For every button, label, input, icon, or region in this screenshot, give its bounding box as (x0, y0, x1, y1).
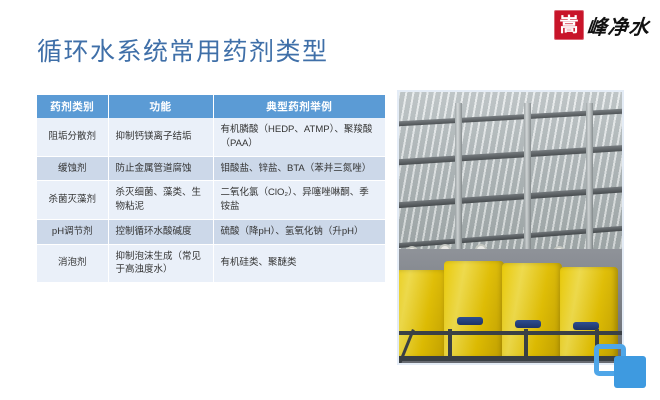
cell-examples: 有机膦酸（HEDP、ATMP）、聚羧酸（PAA） (213, 118, 385, 156)
photo-frame-bar (524, 329, 528, 361)
photo-tank-mixer (457, 317, 483, 325)
cell-examples: 钼酸盐、锌盐、BTA（苯并三氮唑） (213, 156, 385, 181)
chemical-table-container: 药剂类别 功能 典型药剂举例 阻垢分散剂 抑制钙镁离子结垢 有机膦酸（HEDP、… (37, 95, 385, 283)
table-row: 缓蚀剂 防止金属管道腐蚀 钼酸盐、锌盐、BTA（苯并三氮唑） (37, 156, 385, 181)
cell-category: 缓蚀剂 (37, 156, 108, 181)
photo-frame-bar (399, 331, 622, 335)
cell-category: 阻垢分散剂 (37, 118, 108, 156)
square-filled-icon (614, 356, 646, 388)
photo-support-column (455, 103, 462, 266)
slide: 嵩 峰净水 循环水系统常用药剂类型 药剂类别 功能 典型药剂举例 阻垢分散剂 抑… (0, 0, 660, 400)
cell-function: 防止金属管道腐蚀 (108, 156, 213, 181)
facility-photo-inner (399, 92, 622, 363)
photo-support-column (524, 103, 531, 266)
table-row: 阻垢分散剂 抑制钙镁离子结垢 有机膦酸（HEDP、ATMP）、聚羧酸（PAA） (37, 118, 385, 156)
cell-function: 杀灭细菌、藻类、生物粘泥 (108, 181, 213, 220)
table-row: 消泡剂 抑制泡沫生成（常见于高浊度水） 有机硅类、聚醚类 (37, 244, 385, 283)
photo-frame-bar (448, 329, 452, 361)
table-header-function: 功能 (108, 95, 213, 118)
table-row: pH调节剂 控制循环水酸碱度 硫酸（降pH）、氢氧化钠（升pH） (37, 219, 385, 244)
cell-function: 控制循环水酸碱度 (108, 219, 213, 244)
table-header-row: 药剂类别 功能 典型药剂举例 (37, 95, 385, 118)
table-header-examples: 典型药剂举例 (213, 95, 385, 118)
facility-photo (397, 90, 624, 365)
photo-chemical-tank (502, 263, 562, 359)
cell-examples: 硫酸（降pH）、氢氧化钠（升pH） (213, 219, 385, 244)
cell-function: 抑制泡沫生成（常见于高浊度水） (108, 244, 213, 283)
table-row: 杀菌灭藻剂 杀灭细菌、藻类、生物粘泥 二氧化氯（ClO₂）、异噻唑啉酮、季铵盐 (37, 181, 385, 220)
photo-tank-mixer (515, 320, 541, 328)
page-title: 循环水系统常用药剂类型 (37, 32, 329, 68)
cell-examples: 有机硅类、聚醚类 (213, 244, 385, 283)
cell-examples: 二氧化氯（ClO₂）、异噻唑啉酮、季铵盐 (213, 181, 385, 220)
cell-category: pH调节剂 (37, 219, 108, 244)
company-logo: 嵩 峰净水 (554, 8, 650, 42)
chemical-table: 药剂类别 功能 典型药剂举例 阻垢分散剂 抑制钙镁离子结垢 有机膦酸（HEDP、… (37, 95, 385, 283)
photo-chemical-tank (444, 261, 504, 359)
cell-category: 杀菌灭藻剂 (37, 181, 108, 220)
table-header-category: 药剂类别 (37, 95, 108, 118)
photo-tank-area (399, 249, 622, 363)
cell-function: 抑制钙镁离子结垢 (108, 118, 213, 156)
logo-wordmark: 峰净水 (585, 11, 651, 40)
photo-support-column (586, 103, 593, 266)
photo-frame-bar (399, 356, 622, 361)
logo-seal-icon: 嵩 (554, 10, 584, 40)
cell-category: 消泡剂 (37, 244, 108, 283)
decorative-squares (594, 344, 652, 392)
